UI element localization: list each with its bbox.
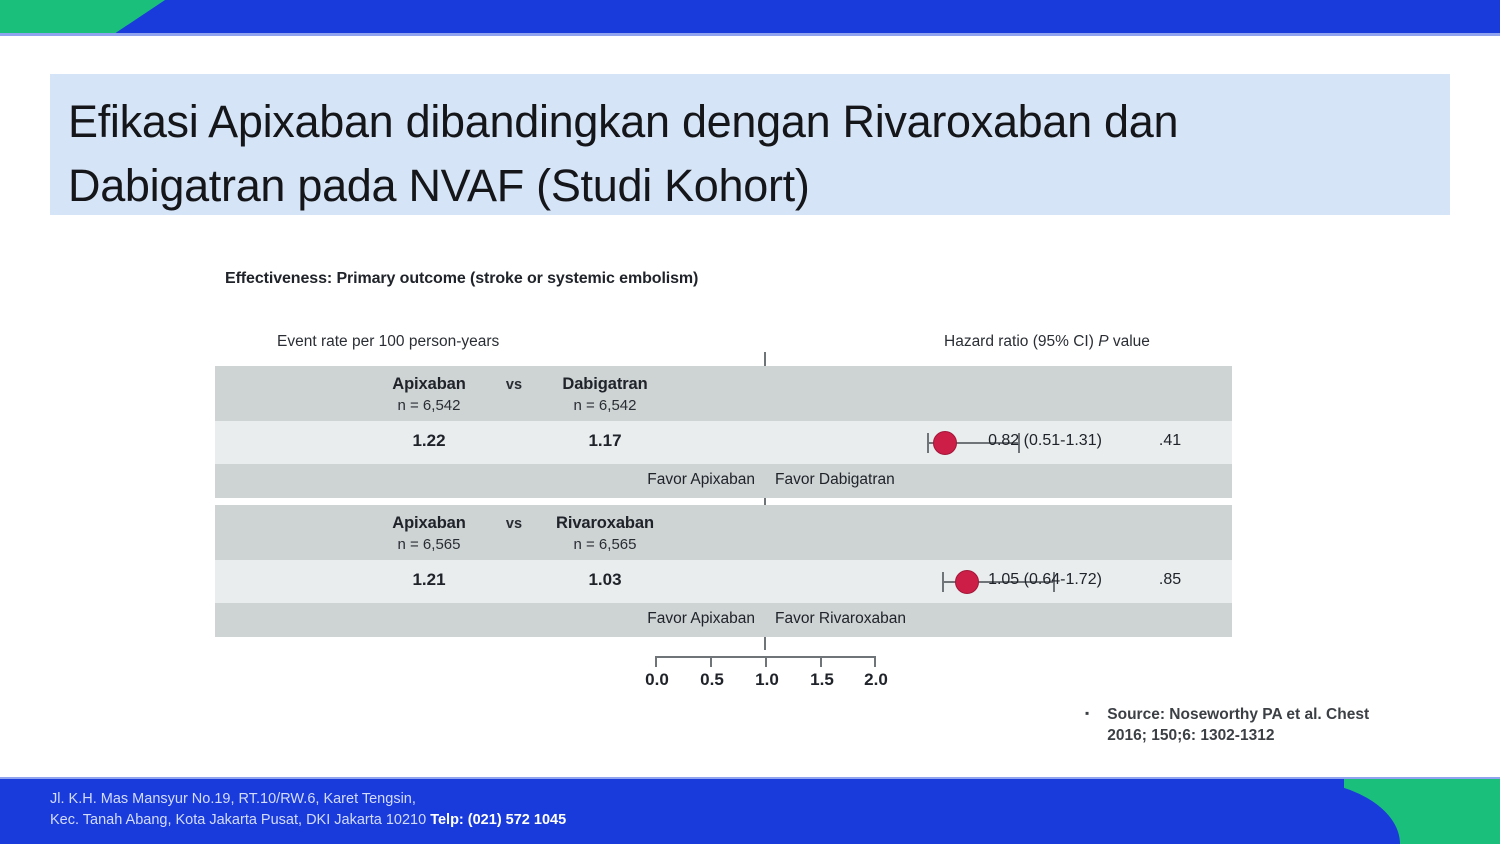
- drug-b-n-1: n = 6,542: [505, 397, 705, 414]
- footer-topline: [0, 777, 1500, 779]
- table-row-favor-2: Favor Apixaban Favor Rivaroxaban: [215, 603, 1232, 637]
- drug-b-n-2: n = 6,565: [505, 536, 705, 553]
- x-axis-label-3: 1.5: [792, 670, 852, 690]
- x-axis-label-4: 2.0: [846, 670, 906, 690]
- x-axis-label-2: 1.0: [737, 670, 797, 690]
- x-axis-tick-3: [820, 656, 822, 667]
- table-row-header-2: Apixaban vs Rivaroxaban n = 6,565 n = 6,…: [215, 505, 1232, 560]
- top-bar-underline: [0, 33, 1500, 36]
- x-axis-tick-1: [710, 656, 712, 667]
- p-value-label: value: [1109, 333, 1150, 350]
- title-banner: Efikasi Apixaban dibandingkan dengan Riv…: [50, 74, 1450, 215]
- table-row-header-1: Apixaban vs Dabigatran n = 6,542 n = 6,5…: [215, 366, 1232, 421]
- event-rate-b-2: 1.03: [505, 570, 705, 590]
- drug-b-name-1: Dabigatran: [505, 375, 705, 394]
- footer-bar: Jl. K.H. Mas Mansyur No.19, RT.10/RW.6, …: [0, 777, 1500, 844]
- source-text: Source: Noseworthy PA et al. Chest 2016;…: [1107, 704, 1485, 747]
- hazard-ratio-label: Hazard ratio (95% CI): [944, 333, 1098, 350]
- footer-address: Jl. K.H. Mas Mansyur No.19, RT.10/RW.6, …: [50, 789, 566, 831]
- x-axis-tick-0: [655, 656, 657, 667]
- favor-right-label-1: Favor Dabigatran: [775, 471, 1035, 489]
- footer-address-line-1: Jl. K.H. Mas Mansyur No.19, RT.10/RW.6, …: [50, 789, 566, 810]
- bullet-icon: ▪: [1085, 704, 1089, 747]
- drug-a-n-2: n = 6,565: [339, 536, 519, 553]
- drug-b-name-2: Rivaroxaban: [505, 514, 705, 533]
- source-note: ▪ Source: Noseworthy PA et al. Chest 201…: [1085, 704, 1485, 747]
- footer-address-line-2: Kec. Tanah Abang, Kota Jakarta Pusat, DK…: [50, 812, 430, 828]
- table-row-favor-1: Favor Apixaban Favor Dabigatran: [215, 464, 1232, 498]
- x-axis-label-0: 0.0: [627, 670, 687, 690]
- top-decorative-bar: [0, 0, 1500, 33]
- x-axis: 0.0 0.5 1.0 1.5 2.0: [215, 650, 1232, 696]
- p-value-2: .85: [1130, 571, 1210, 589]
- event-rate-a-2: 1.21: [339, 570, 519, 590]
- p-value-1: .41: [1130, 432, 1210, 450]
- comparison-block-2: Apixaban vs Rivaroxaban n = 6,565 n = 6,…: [215, 505, 1232, 637]
- x-axis-tick-4: [874, 656, 876, 667]
- x-axis-tick-2: [765, 656, 767, 667]
- drug-a-n-1: n = 6,542: [339, 397, 519, 414]
- comparison-block-1: Apixaban vs Dabigatran n = 6,542 n = 6,5…: [215, 366, 1232, 498]
- x-axis-label-1: 0.5: [682, 670, 742, 690]
- table-row-data-2: 1.21 1.03 1.05 (0.64-1.72) .85: [215, 560, 1232, 603]
- favor-left-label-1: Favor Apixaban: [515, 471, 755, 489]
- p-italic-label: P: [1098, 333, 1108, 350]
- table-row-data-1: 1.22 1.17 0.82 (0.51-1.31) .41: [215, 421, 1232, 464]
- footer-address-line-2-wrapper: Kec. Tanah Abang, Kota Jakarta Pusat, DK…: [50, 810, 566, 831]
- event-rate-a-1: 1.22: [339, 431, 519, 451]
- hazard-ratio-column-header: Hazard ratio (95% CI) P value: [944, 333, 1150, 351]
- favor-right-label-2: Favor Rivaroxaban: [775, 610, 1035, 628]
- figure-title: Effectiveness: Primary outcome (stroke o…: [225, 270, 698, 288]
- event-rate-b-1: 1.17: [505, 431, 705, 451]
- forest-plot-figure: Effectiveness: Primary outcome (stroke o…: [215, 265, 1235, 695]
- top-bar-green-shape: [0, 0, 165, 33]
- page-title: Efikasi Apixaban dibandingkan dengan Riv…: [68, 90, 1450, 218]
- footer-phone: Telp: (021) 572 1045: [430, 812, 566, 828]
- event-rate-column-header: Event rate per 100 person-years: [277, 333, 499, 351]
- favor-left-label-2: Favor Apixaban: [515, 610, 755, 628]
